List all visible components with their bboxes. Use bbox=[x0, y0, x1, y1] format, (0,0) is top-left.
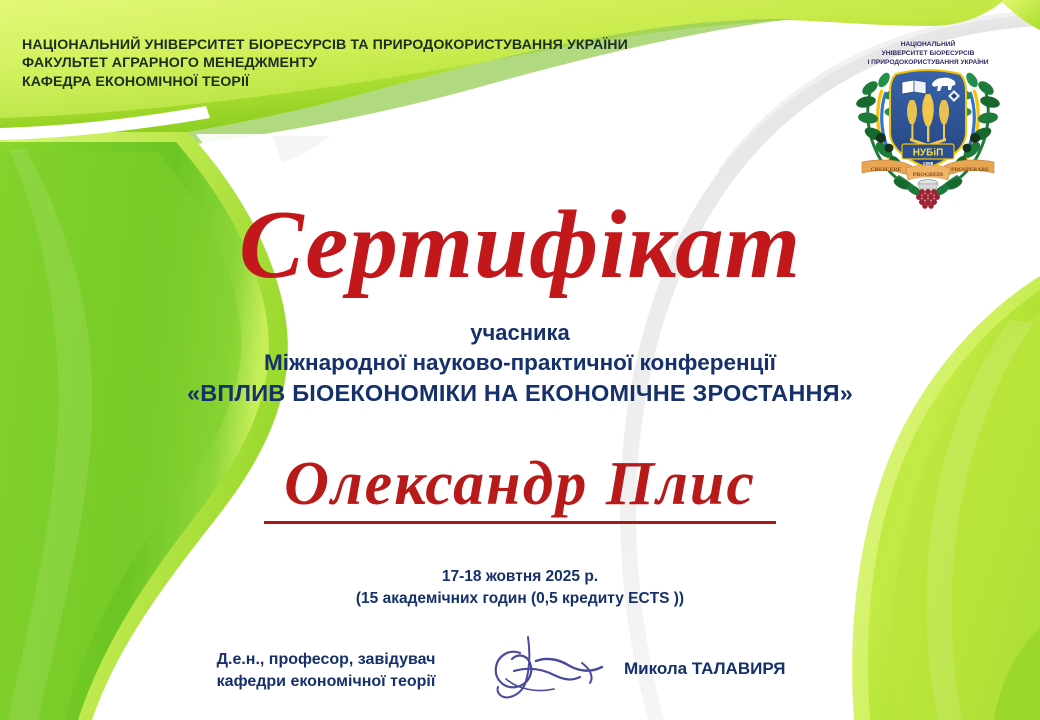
berry-cluster-icon bbox=[892, 176, 964, 209]
date-block: 17-18 жовтня 2025 р. (15 академічних год… bbox=[0, 566, 1040, 611]
book-icon bbox=[902, 80, 926, 94]
emblem-caption-line-2: УНІВЕРСИТЕТ БІОРЕСУРСІВ bbox=[882, 50, 975, 57]
header-line-department: КАФЕДРА ЕКОНОМІЧНОЇ ТЕОРІЇ bbox=[22, 73, 628, 91]
event-date: 17-18 жовтня 2025 р. bbox=[0, 566, 1040, 588]
signer-title-line-1: Д.е.н., професор, завідувач bbox=[186, 649, 466, 671]
shield-icon: НУБіП 1898 bbox=[890, 70, 966, 168]
shield-label: НУБіП bbox=[913, 148, 944, 159]
subtitle-theme: «ВПЛИВ БІОЕКОНОМІКИ НА ЕКОНОМІЧНЕ ЗРОСТА… bbox=[0, 378, 1040, 410]
motto-center: PROGREDI bbox=[913, 172, 943, 178]
motto-left: CRESCERE bbox=[871, 167, 902, 173]
certificate-subtitle: учасника Міжнародної науково-практичної … bbox=[0, 318, 1040, 410]
subtitle-conference: Міжнародної науково-практичної конференц… bbox=[0, 348, 1040, 378]
emblem-caption-line-3: І ПРИРОДОКОРИСТУВАННЯ УКРАЇНИ bbox=[867, 58, 988, 66]
header-line-faculty: ФАКУЛЬТЕТ АГРАРНОГО МЕНЕДЖМЕНТУ bbox=[22, 54, 628, 72]
event-hours-credits: (15 академічних годин (0,5 кредиту ECTS … bbox=[0, 588, 1040, 610]
institution-header: НАЦІОНАЛЬНИЙ УНІВЕРСИТЕТ БІОРЕСУРСІВ ТА … bbox=[22, 36, 628, 91]
signer-title: Д.е.н., професор, завідувач кафедри екон… bbox=[186, 649, 466, 692]
subtitle-role: учасника bbox=[0, 318, 1040, 348]
certificate-title-text: Сертифікат bbox=[239, 191, 801, 298]
university-emblem: НАЦІОНАЛЬНИЙ УНІВЕРСИТЕТ БІОРЕСУРСІВ І П… bbox=[848, 34, 1008, 209]
signer-name: Микола ТАЛАВИРЯ bbox=[624, 659, 785, 679]
motto-right: PROSPERARE bbox=[951, 167, 989, 173]
signature-row: Д.е.н., професор, завідувач кафедри екон… bbox=[0, 645, 1040, 705]
recipient-block: Олександр Плис bbox=[0, 452, 1040, 524]
header-line-university: НАЦІОНАЛЬНИЙ УНІВЕРСИТЕТ БІОРЕСУРСІВ ТА … bbox=[22, 36, 628, 54]
certificate-title: Сертифікат bbox=[0, 196, 1040, 293]
emblem-caption-line-1: НАЦІОНАЛЬНИЙ bbox=[901, 39, 956, 48]
handwritten-signature-icon bbox=[484, 631, 624, 705]
recipient-name: Олександр Плис bbox=[264, 452, 776, 524]
signer-title-line-2: кафедри економічної теорії bbox=[186, 671, 466, 693]
certificate-page: НАЦІОНАЛЬНИЙ УНІВЕРСИТЕТ БІОРЕСУРСІВ ТА … bbox=[0, 0, 1040, 720]
